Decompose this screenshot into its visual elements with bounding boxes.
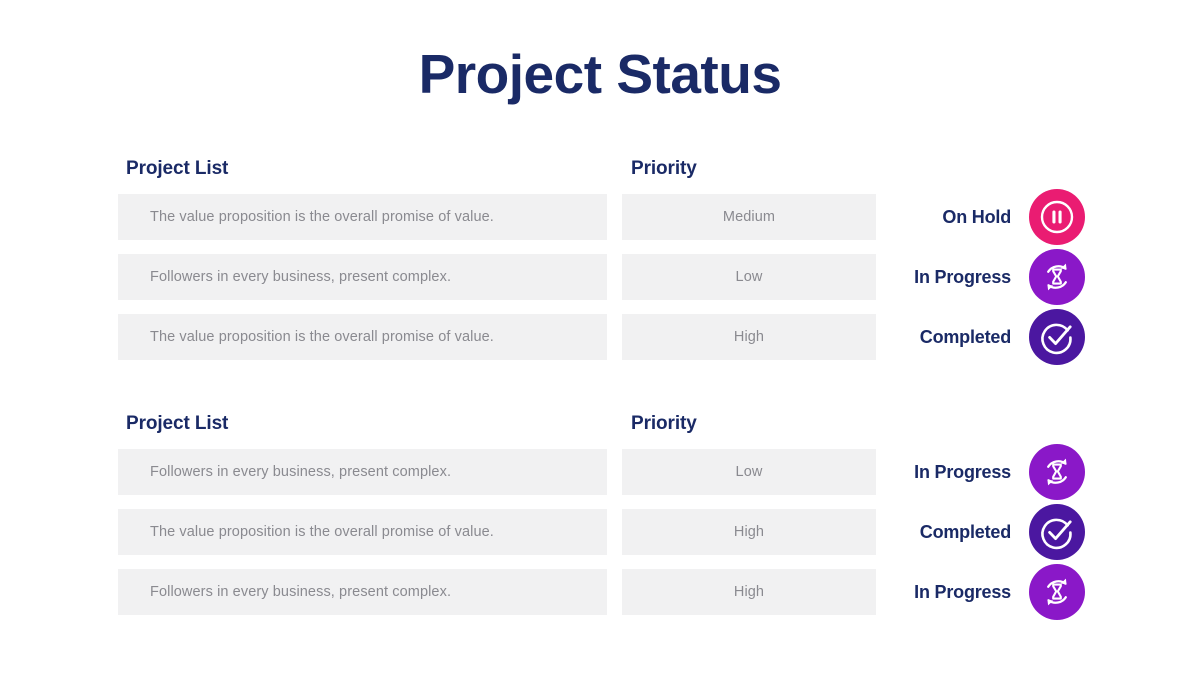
priority-value: High xyxy=(734,329,764,345)
priority-cell[interactable]: Low xyxy=(622,254,876,300)
priority-cell[interactable]: Medium xyxy=(622,194,876,240)
table-row[interactable]: The value proposition is the overall pro… xyxy=(0,314,1200,360)
project-description: Followers in every business, present com… xyxy=(118,584,451,600)
hourglass-refresh-icon xyxy=(1029,249,1085,305)
check-circle-icon xyxy=(1029,504,1085,560)
column-headers: Project List Priority xyxy=(0,158,1200,188)
column-header-priority: Priority xyxy=(631,413,697,435)
status-label: In Progress xyxy=(914,267,1011,288)
column-header-project-list: Project List xyxy=(126,158,228,180)
project-cell[interactable]: Followers in every business, present com… xyxy=(118,254,607,300)
project-cell[interactable]: The value proposition is the overall pro… xyxy=(118,509,607,555)
project-status-section-2: Project List Priority Followers in every… xyxy=(0,413,1200,629)
table-row[interactable]: The value proposition is the overall pro… xyxy=(0,194,1200,240)
status-cell[interactable]: On Hold xyxy=(880,189,1085,245)
status-label: In Progress xyxy=(914,582,1011,603)
status-label: Completed xyxy=(920,327,1011,348)
table-row[interactable]: Followers in every business, present com… xyxy=(0,569,1200,615)
table-row[interactable]: Followers in every business, present com… xyxy=(0,449,1200,495)
priority-cell[interactable]: High xyxy=(622,569,876,615)
pause-icon xyxy=(1029,189,1085,245)
project-status-section-1: Project List Priority The value proposit… xyxy=(0,158,1200,374)
priority-value: Medium xyxy=(723,209,775,225)
status-cell[interactable]: Completed xyxy=(880,309,1085,365)
status-label: In Progress xyxy=(914,462,1011,483)
hourglass-refresh-icon xyxy=(1029,444,1085,500)
project-status-slide: Project Status Project List Priority The… xyxy=(0,0,1200,675)
project-description: The value proposition is the overall pro… xyxy=(118,209,494,225)
project-cell[interactable]: The value proposition is the overall pro… xyxy=(118,314,607,360)
status-cell[interactable]: In Progress xyxy=(880,444,1085,500)
status-cell[interactable]: In Progress xyxy=(880,564,1085,620)
status-badge-on-hold[interactable] xyxy=(1029,189,1085,245)
status-badge-completed[interactable] xyxy=(1029,309,1085,365)
status-label: On Hold xyxy=(942,207,1011,228)
project-rows: The value proposition is the overall pro… xyxy=(0,194,1200,360)
status-badge-completed[interactable] xyxy=(1029,504,1085,560)
page-title: Project Status xyxy=(0,44,1200,105)
status-cell[interactable]: In Progress xyxy=(880,249,1085,305)
project-description: The value proposition is the overall pro… xyxy=(118,524,494,540)
priority-value: Low xyxy=(736,464,763,480)
project-cell[interactable]: The value proposition is the overall pro… xyxy=(118,194,607,240)
project-cell[interactable]: Followers in every business, present com… xyxy=(118,449,607,495)
status-cell[interactable]: Completed xyxy=(880,504,1085,560)
priority-value: High xyxy=(734,584,764,600)
project-description: Followers in every business, present com… xyxy=(118,464,451,480)
table-row[interactable]: Followers in every business, present com… xyxy=(0,254,1200,300)
status-label: Completed xyxy=(920,522,1011,543)
column-header-project-list: Project List xyxy=(126,413,228,435)
status-badge-in-progress[interactable] xyxy=(1029,444,1085,500)
priority-cell[interactable]: Low xyxy=(622,449,876,495)
priority-value: Low xyxy=(736,269,763,285)
project-description: The value proposition is the overall pro… xyxy=(118,329,494,345)
status-badge-in-progress[interactable] xyxy=(1029,249,1085,305)
priority-value: High xyxy=(734,524,764,540)
column-header-priority: Priority xyxy=(631,158,697,180)
column-headers: Project List Priority xyxy=(0,413,1200,443)
project-rows: Followers in every business, present com… xyxy=(0,449,1200,615)
check-circle-icon xyxy=(1029,309,1085,365)
priority-cell[interactable]: High xyxy=(622,509,876,555)
project-cell[interactable]: Followers in every business, present com… xyxy=(118,569,607,615)
status-badge-in-progress[interactable] xyxy=(1029,564,1085,620)
priority-cell[interactable]: High xyxy=(622,314,876,360)
hourglass-refresh-icon xyxy=(1029,564,1085,620)
table-row[interactable]: The value proposition is the overall pro… xyxy=(0,509,1200,555)
project-description: Followers in every business, present com… xyxy=(118,269,451,285)
